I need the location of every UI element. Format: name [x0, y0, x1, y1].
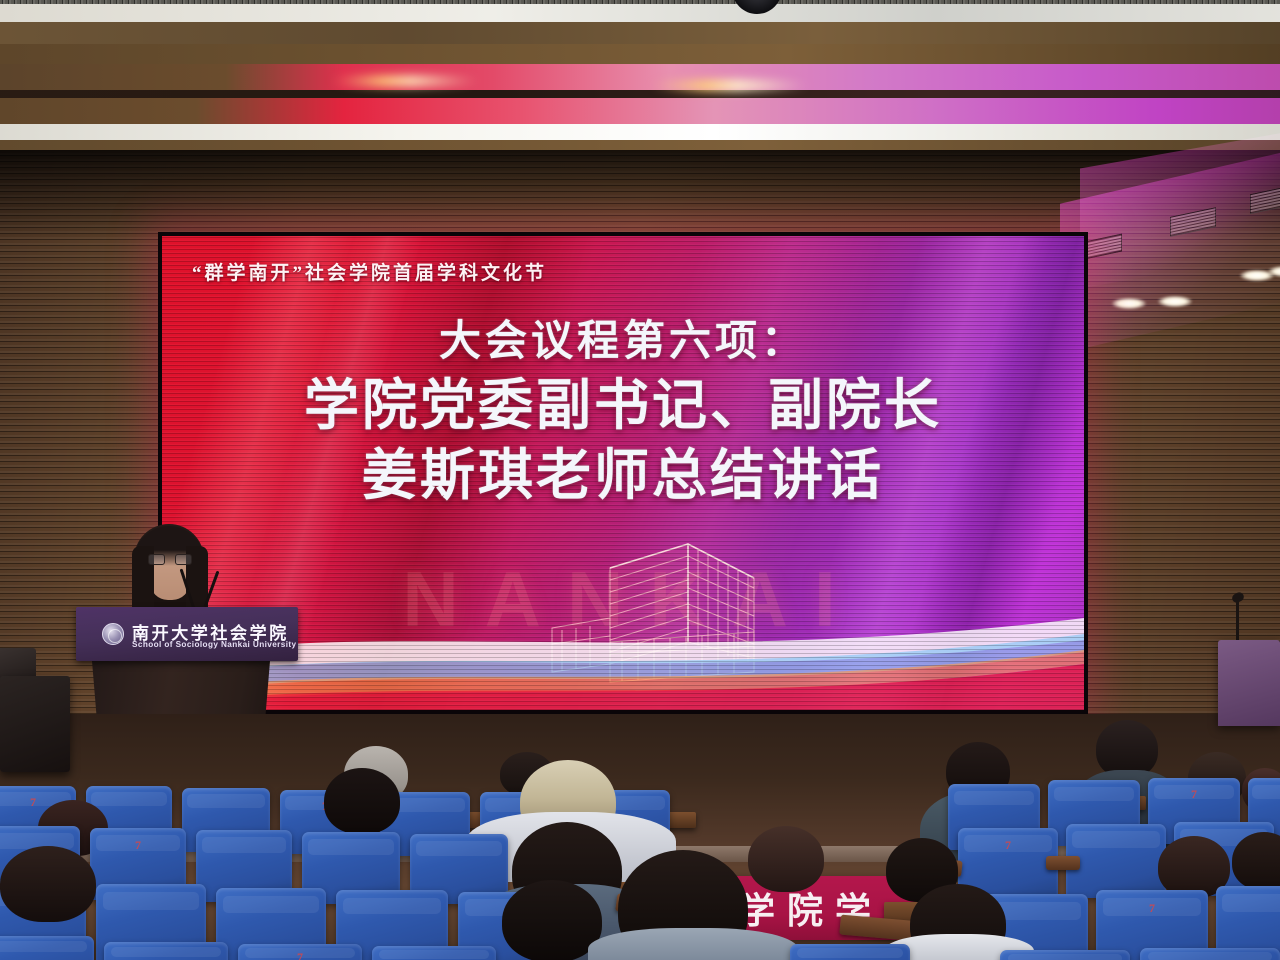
title-line-1: 大会议程第六项：: [162, 314, 1084, 371]
title-line-3: 姜斯琪老师总结讲话: [162, 441, 1084, 511]
ceiling-lamp: [650, 80, 810, 91]
audience-head: [748, 826, 824, 892]
seat-number: 7: [1191, 787, 1197, 802]
podium-institution-en: School of Sociology Nankai University: [132, 640, 296, 649]
speaker-glasses: [148, 554, 192, 565]
seat-number: 7: [1005, 838, 1011, 853]
ribbon-graphic: [162, 560, 1084, 710]
seat[interactable]: [104, 942, 228, 960]
side-table: [1218, 640, 1280, 726]
title-line-2: 学院党委副书记、副院长: [162, 371, 1084, 441]
seat[interactable]: [1140, 948, 1280, 960]
spotlight: [1112, 298, 1146, 309]
auditorium-scene: NANKAI: [0, 0, 1280, 960]
side-microphone-icon: [1236, 600, 1239, 642]
audience-head: [0, 846, 96, 922]
seat[interactable]: [1000, 950, 1130, 960]
audience-head: [502, 880, 602, 960]
podium-sign: 南开大学社会学院 School of Sociology Nankai Univ…: [76, 607, 298, 661]
screen-title-block: 大会议程第六项： 学院党委副书记、副院长 姜斯琪老师总结讲话: [162, 314, 1084, 511]
seat-number: 7: [297, 950, 303, 960]
screen-header-text: “群学南开”社会学院首届学科文化节: [192, 258, 1072, 285]
av-console: [0, 676, 70, 772]
seat[interactable]: 7: [238, 944, 362, 960]
seat[interactable]: [372, 946, 496, 960]
seat[interactable]: [0, 936, 94, 960]
seat-number: 7: [1149, 901, 1155, 916]
seat-number: 7: [135, 838, 141, 853]
seat-armrest: [1046, 856, 1080, 870]
audience-head: [324, 768, 400, 834]
wall-upper-shadow: [0, 150, 1280, 240]
seat[interactable]: [790, 944, 910, 960]
audience-shoulders: [588, 928, 798, 960]
nankai-emblem-icon: [102, 623, 124, 645]
ceiling-lamp: [330, 76, 480, 86]
audience-head: [1232, 832, 1280, 890]
led-screen-content: NANKAI: [162, 236, 1084, 710]
spotlight: [1158, 296, 1192, 307]
seat-number: 7: [30, 795, 36, 810]
seat[interactable]: [1066, 824, 1166, 898]
